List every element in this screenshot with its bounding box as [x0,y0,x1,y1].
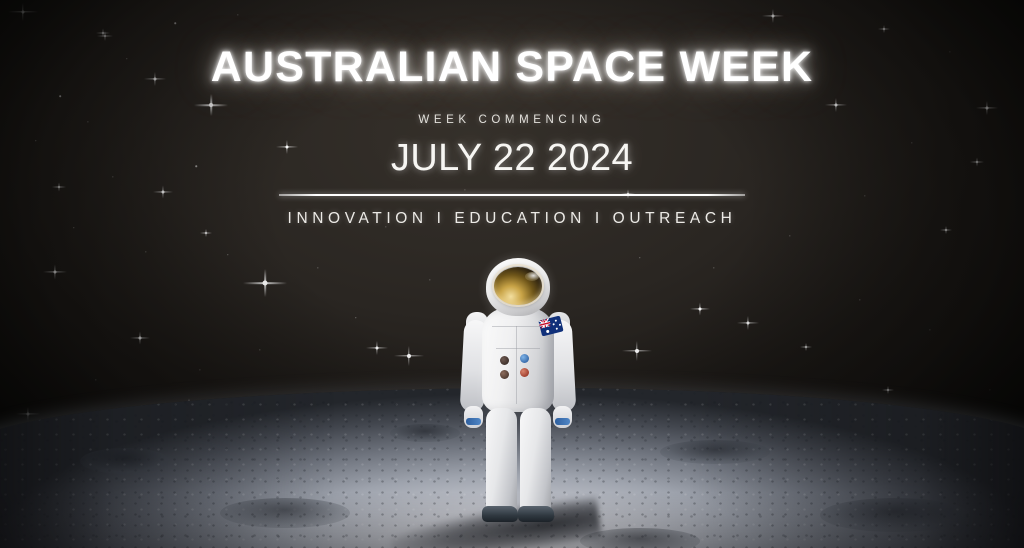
page-title: AUSTRALIAN SPACE WEEK [0,44,1024,90]
suit-boot-left [482,506,518,522]
suit-leg-right [520,408,551,512]
poster-canvas: AUSTRALIAN SPACE WEEK WEEK COMMENCING JU… [0,0,1024,548]
event-date: JULY 22 2024 [0,137,1024,180]
astronaut-figure [452,258,584,540]
visor-rim [492,264,544,307]
tagline-text: INNOVATION I EDUCATION I OUTREACH [0,210,1024,228]
subtitle-label: WEEK COMMENCING [0,114,1024,126]
suit-leg-left [486,408,517,512]
poster-text-block: AUSTRALIAN SPACE WEEK WEEK COMMENCING JU… [0,44,1024,228]
southern-cross-star [552,323,554,325]
chest-connector-red [520,368,529,377]
southern-cross-star [556,327,558,329]
suit-glove-right [553,406,572,428]
commonwealth-star [546,330,550,334]
helmet-visor-icon [486,258,550,316]
union-jack [538,318,551,328]
southern-cross-star [555,319,557,321]
southern-cross-star [559,324,561,326]
chest-connector-dark [500,356,509,365]
chest-connector-dark-2 [500,370,509,379]
suit-glove-left [464,406,483,428]
suit-boot-right [518,506,554,522]
chest-connector-blue [520,354,529,363]
divider-rule [279,194,745,196]
